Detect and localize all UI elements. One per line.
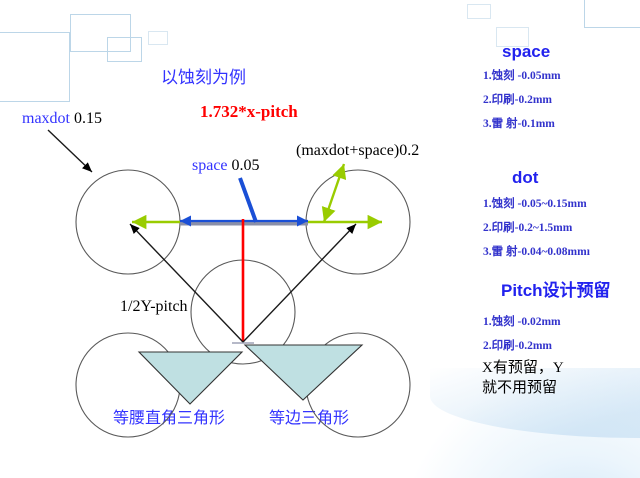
- panel-note: X有预留，Y 就不用预留: [482, 358, 564, 399]
- slide-canvas: 以蚀刻为例 1.732*x-pitch maxdot 0.15 space 0.…: [0, 0, 640, 478]
- maxdot-label-value: 0.15: [74, 110, 102, 127]
- maxdot-plus-space-label: (maxdot+space)0.2: [296, 142, 419, 160]
- triangle-leg-left: [130, 224, 243, 342]
- space-label-pointer: [240, 178, 256, 222]
- triangle-left-caption: 等腰直角三角形: [113, 410, 225, 428]
- space-label-name: space: [192, 157, 228, 174]
- panel-item-pitch-1: 1.蚀刻 -0.02mm: [483, 316, 561, 329]
- panel-heading-space: space: [502, 42, 550, 62]
- isosceles-right-triangle: [139, 352, 242, 404]
- decor-rect-1: [0, 32, 70, 102]
- maxdot-label-name: maxdot: [22, 110, 70, 127]
- dot-circle-top-right: [306, 170, 410, 274]
- panel-item-dot-1: 1.蚀刻 -0.05~0.15mm: [483, 198, 587, 211]
- space-label: space 0.05: [192, 157, 260, 175]
- slide-title: 以蚀刻为例: [161, 68, 246, 88]
- panel-item-dot-2: 2.印刷-0.2~1.5mm: [483, 222, 572, 235]
- triangle-leg-right: [243, 224, 356, 342]
- decor-rect-7: [584, 0, 640, 28]
- half-y-pitch-label: 1/2Y-pitch: [120, 298, 188, 316]
- panel-item-space-2: 2.印刷-0.2mm: [483, 94, 552, 107]
- panel-heading-dot: dot: [512, 168, 538, 188]
- decor-rect-4: [148, 31, 168, 45]
- decor-rect-3: [107, 37, 142, 62]
- triangle-right-caption: 等边三角形: [269, 410, 349, 428]
- dot-circle-top-left: [76, 170, 180, 274]
- equilateral-triangle: [245, 345, 362, 400]
- pitch-formula: 1.732*x-pitch: [200, 102, 298, 122]
- decor-rect-2: [70, 14, 131, 52]
- decor-rect-5: [467, 4, 491, 19]
- panel-item-space-1: 1.蚀刻 -0.05mm: [483, 70, 561, 83]
- dot-circle-center: [191, 260, 295, 364]
- panel-item-dot-3: 3.雷 射-0.04~0.08mmı: [483, 246, 590, 259]
- maxdot-label: maxdot 0.15: [22, 110, 102, 128]
- maxdot-space-green-arrow: [324, 164, 344, 222]
- maxdot-callout-arrow: [48, 130, 92, 172]
- panel-item-space-3: 3.雷 射-0.1mm: [483, 118, 555, 131]
- panel-heading-pitch: Pitch设计预留: [501, 281, 611, 301]
- panel-item-pitch-2: 2.印刷-0.2mm: [483, 340, 552, 353]
- space-label-value: 0.05: [232, 157, 260, 174]
